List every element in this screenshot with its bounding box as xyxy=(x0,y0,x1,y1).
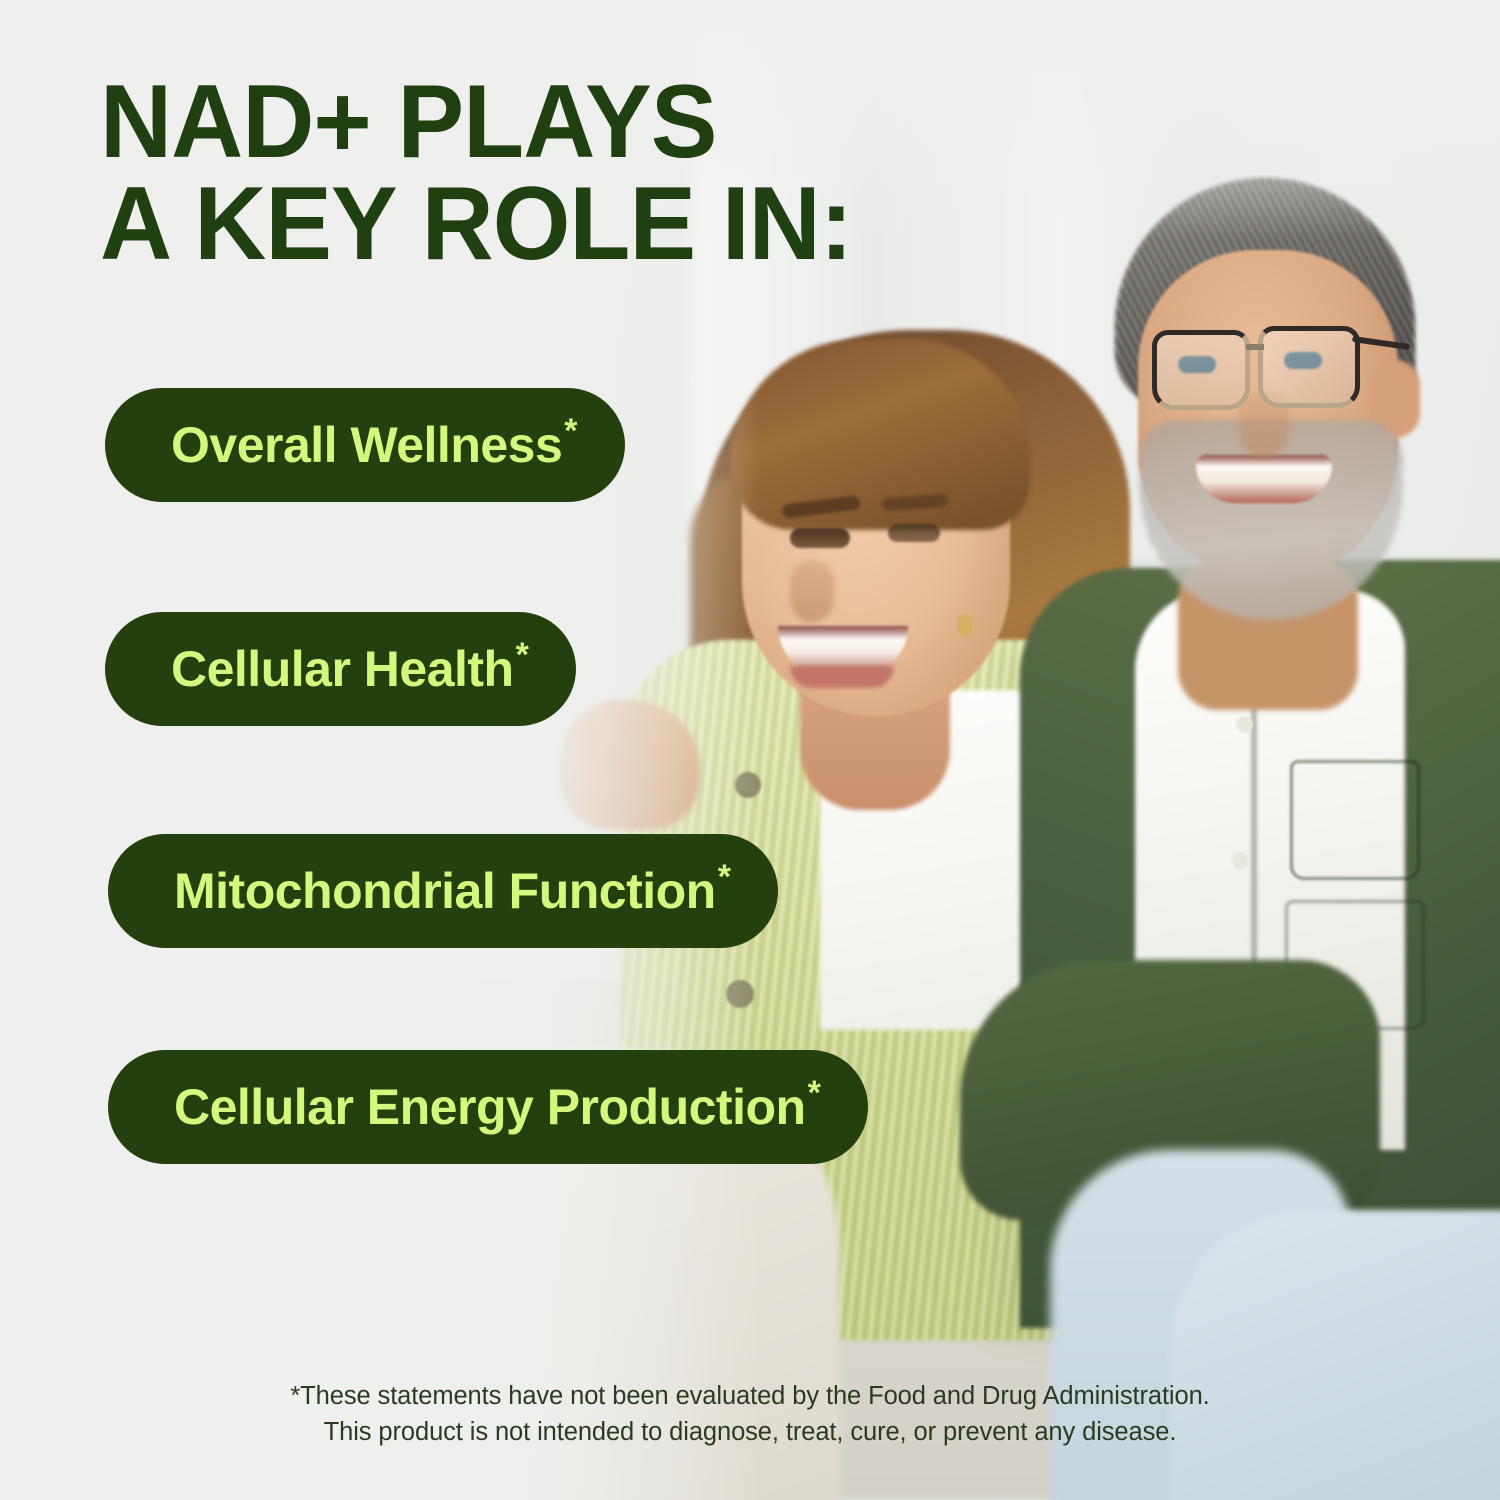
asterisk-marker: * xyxy=(718,860,731,894)
benefit-pill-cellular-energy-production[interactable]: Cellular Energy Production* xyxy=(108,1050,868,1164)
benefit-pill-cellular-health[interactable]: Cellular Health* xyxy=(105,612,576,726)
benefit-label: Cellular Health xyxy=(171,640,514,698)
benefit-pill-overall-wellness[interactable]: Overall Wellness* xyxy=(105,388,625,502)
benefit-label: Cellular Energy Production xyxy=(174,1078,806,1136)
asterisk-marker: * xyxy=(564,414,577,448)
promo-graphic: NAD+ PLAYS A KEY ROLE IN: Overall Wellne… xyxy=(0,0,1500,1500)
benefit-label: Mitochondrial Function xyxy=(174,862,716,920)
asterisk-marker: * xyxy=(808,1076,821,1110)
benefit-pill-mitochondrial-function[interactable]: Mitochondrial Function* xyxy=(108,834,778,948)
page-title: NAD+ PLAYS A KEY ROLE IN: xyxy=(100,72,852,276)
benefit-label: Overall Wellness xyxy=(171,416,562,474)
fda-disclaimer: *These statements have not been evaluate… xyxy=(0,1378,1500,1450)
asterisk-marker: * xyxy=(516,638,529,672)
